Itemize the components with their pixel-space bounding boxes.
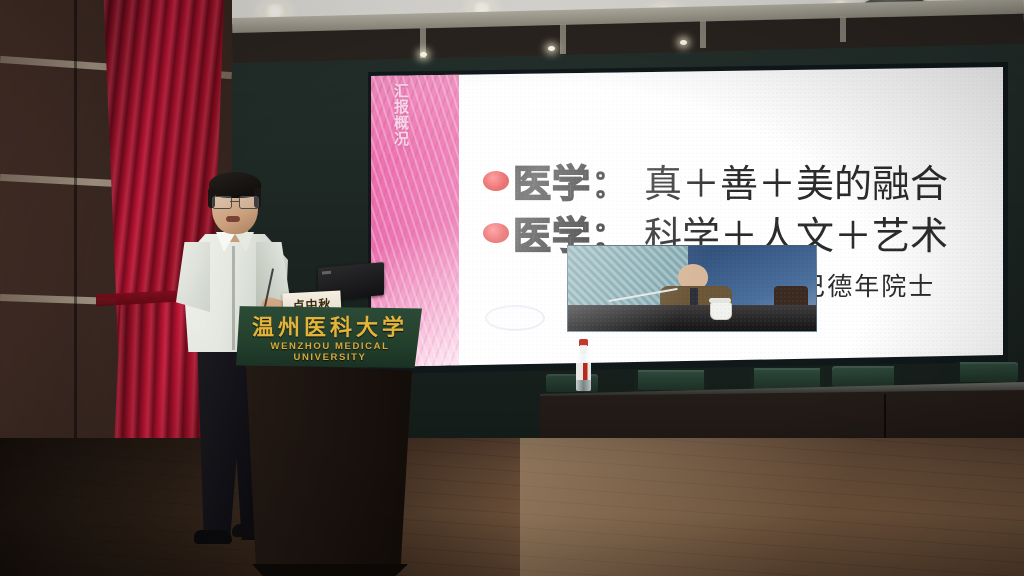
chair bbox=[956, 362, 1018, 382]
podium: 温州医科大学 WENZHOU MEDICAL UNIVERSITY bbox=[232, 306, 426, 576]
slide-bullet-content: 真＋善＋美的融合 bbox=[644, 153, 948, 208]
chair-leg bbox=[956, 362, 960, 384]
chair bbox=[832, 366, 898, 387]
pelmet-spot-light bbox=[680, 40, 687, 45]
bullet-dot-icon bbox=[483, 223, 509, 243]
glasses-lens bbox=[239, 196, 259, 209]
slide-body: 医学： 真＋善＋美的融合 医学： 科学＋人文＋艺术 ----巴德年院士 bbox=[459, 67, 1003, 367]
podium-org-name-en: WENZHOU MEDICAL UNIVERSITY bbox=[242, 341, 418, 363]
pelmet-strut bbox=[840, 16, 846, 42]
speaker-mouth bbox=[226, 216, 240, 222]
photo-teacup bbox=[710, 302, 732, 320]
chair bbox=[634, 370, 708, 390]
speaker-glasses-icon bbox=[212, 196, 259, 208]
photo-table bbox=[568, 305, 816, 331]
slide-watermark-icon bbox=[485, 305, 545, 331]
water-bottle bbox=[576, 339, 591, 391]
pelmet-spot-light bbox=[420, 52, 427, 57]
pelmet-strut bbox=[560, 24, 566, 54]
pelmet-spot-light bbox=[548, 46, 555, 51]
slide-bullet-prefix: 医学： bbox=[513, 153, 630, 208]
slide-embedded-photo bbox=[567, 245, 817, 332]
chair-leg bbox=[750, 368, 754, 391]
floor-highlight bbox=[520, 438, 1024, 576]
chair-leg bbox=[704, 368, 708, 392]
lecture-hall-photo: 汇报概况 医学： 真＋善＋美的融合 医学： 科学＋人文＋艺术 ----巴德年院士 bbox=[0, 0, 1024, 576]
laptop-logo-icon bbox=[322, 271, 331, 275]
slide-bullet-row: 医学： 真＋善＋美的融合 bbox=[483, 153, 948, 208]
speaker-shoe bbox=[194, 530, 232, 544]
wall-seam bbox=[74, 0, 77, 470]
glasses-lens bbox=[212, 196, 232, 209]
slide-band-label: 汇报概况 bbox=[379, 83, 409, 147]
bottle-label bbox=[576, 363, 591, 380]
chair-leg bbox=[634, 370, 638, 392]
speaker-sleeve bbox=[176, 242, 210, 312]
glasses-bridge bbox=[230, 201, 239, 202]
pelmet-strut bbox=[700, 20, 706, 48]
podium-org-name-cn: 温州医科大学 bbox=[246, 310, 414, 342]
projection-screen: 汇报概况 医学： 真＋善＋美的融合 医学： 科学＋人文＋艺术 ----巴德年院士 bbox=[371, 67, 1003, 367]
podium-base bbox=[252, 564, 408, 576]
bullet-dot-icon bbox=[483, 171, 509, 191]
photo-teacup-lid bbox=[709, 298, 731, 303]
podium-body bbox=[246, 364, 412, 572]
chair bbox=[750, 368, 824, 389]
